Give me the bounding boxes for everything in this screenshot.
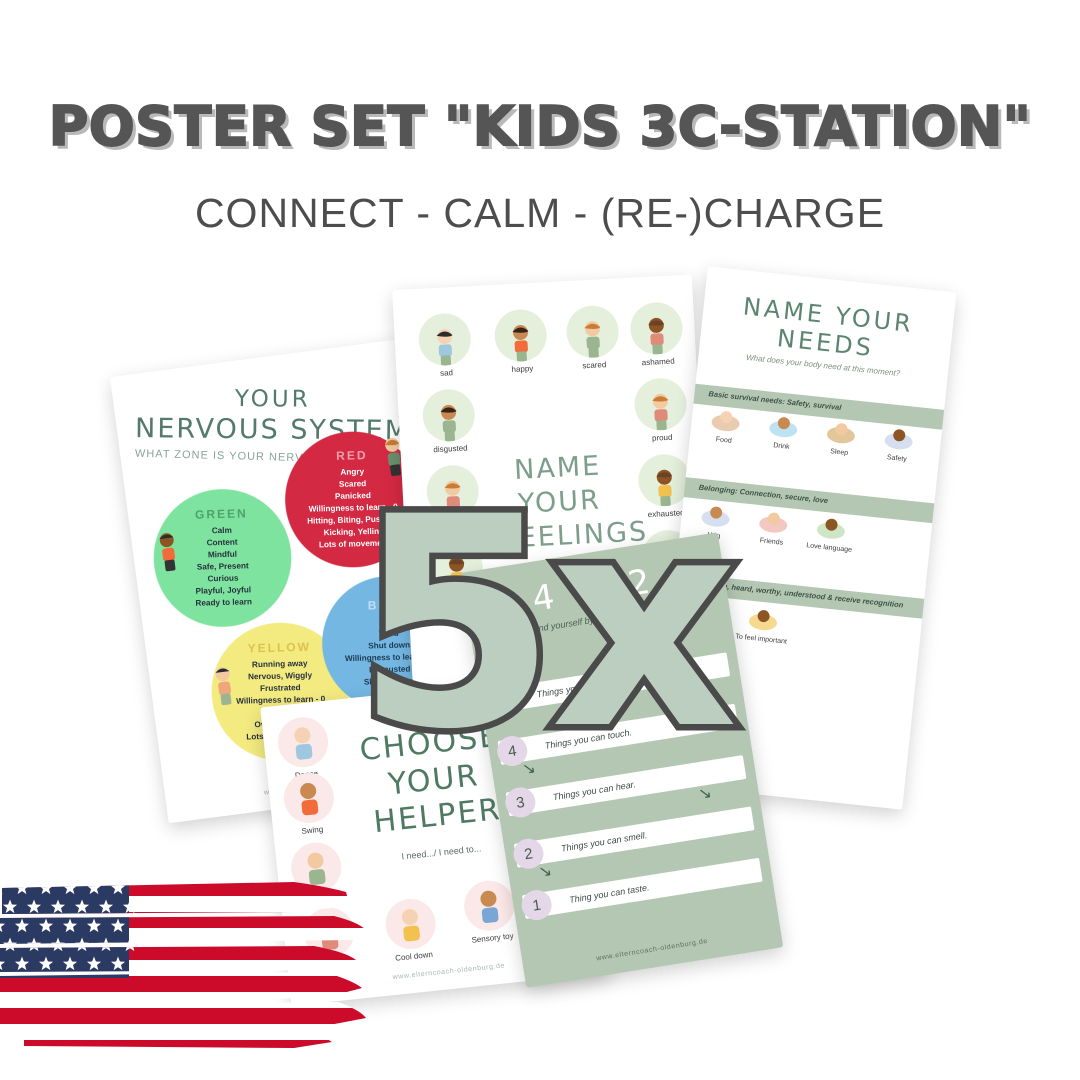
child-figure-icon (429, 327, 461, 367)
feeling-label: disgusted (414, 442, 486, 455)
helper-icon (383, 897, 438, 952)
need-icon (704, 403, 747, 437)
feeling-label: happy (486, 363, 558, 376)
child-figure-icon (433, 403, 465, 443)
helper-icon (281, 770, 336, 825)
feeling-avatar (633, 377, 688, 432)
page-subtitle: CONNECT - CALM - (RE-)CHARGE (0, 154, 1080, 237)
helper-icon (462, 878, 517, 933)
feeling-item: disgusted (411, 388, 486, 456)
zone-line: Playful, Joyful (195, 584, 252, 597)
need-item: Food (696, 402, 756, 447)
feeling-avatar (421, 388, 476, 443)
grounding-step-text: Thing you can taste. (568, 882, 650, 905)
need-item: Drink (753, 408, 813, 453)
zone-line: Ready to learn (195, 596, 252, 609)
feeling-avatar (493, 308, 548, 363)
grounding-step-text: Things you can smell. (560, 830, 648, 853)
needs-title-group: NAME YOUR NEEDS What does your body need… (698, 288, 954, 383)
nervous-title-line1: YOUR (118, 385, 428, 414)
quantity-badge-label: 5x (355, 456, 732, 793)
page-title: POSTER SET "KIDS 3C-STATION" (0, 0, 1080, 154)
feeling-item: ashamed (619, 301, 694, 369)
feeling-avatar (629, 301, 684, 356)
need-icon (752, 505, 795, 539)
helper-subtitle: I need.../ I need to... (356, 838, 526, 866)
feeling-item: happy (483, 308, 558, 376)
need-icon (820, 415, 863, 449)
page-header: POSTER SET "KIDS 3C-STATION" CONNECT - C… (0, 0, 1080, 237)
need-item: Sleep (811, 414, 871, 459)
child-figure-icon (645, 392, 677, 432)
grounding-step: Thing you can taste. (522, 858, 763, 919)
feeling-avatar (417, 312, 472, 367)
poster-url: www.elterncoach-oldenburg.de (523, 926, 781, 974)
need-item: Safety (869, 420, 929, 465)
need-icon (810, 511, 853, 545)
feeling-label: ashamed (622, 355, 694, 368)
child-figure-icon (153, 530, 184, 575)
helper-icon (276, 715, 331, 770)
need-icon (762, 409, 805, 443)
zone-yellow-name: YELLOW (247, 640, 311, 656)
need-icon (877, 421, 920, 455)
grounding-step: Things you can smell. (514, 806, 755, 867)
feeling-label: proud (626, 431, 698, 444)
child-figure-icon (209, 663, 240, 708)
feeling-item: sad (407, 312, 482, 380)
feeling-label: scared (558, 359, 630, 372)
zone-green-lines: CalmContentMindfulSafe, PresentCuriousPl… (193, 525, 252, 610)
zone-line: Safe, Present (194, 560, 251, 573)
zone-green-name: GREEN (195, 507, 248, 522)
usa-flag-icon (0, 860, 374, 1050)
feelings-column-2: happy (483, 308, 559, 388)
helper-item: Cool down (377, 896, 445, 964)
feeling-item: proud (623, 376, 698, 444)
helper-item: Swing (275, 770, 343, 838)
quantity-badge: 5x (355, 480, 755, 770)
grounding-arrow-icon: ↘ (537, 860, 553, 882)
child-figure-icon (641, 316, 673, 356)
feeling-label: sad (410, 367, 482, 380)
feeling-avatar (565, 304, 620, 359)
need-item: Love language (801, 510, 861, 555)
needs-sections: Basic survival needs: Safety, survivalFo… (708, 266, 957, 292)
child-figure-icon (505, 323, 537, 363)
child-figure-icon (577, 319, 609, 359)
